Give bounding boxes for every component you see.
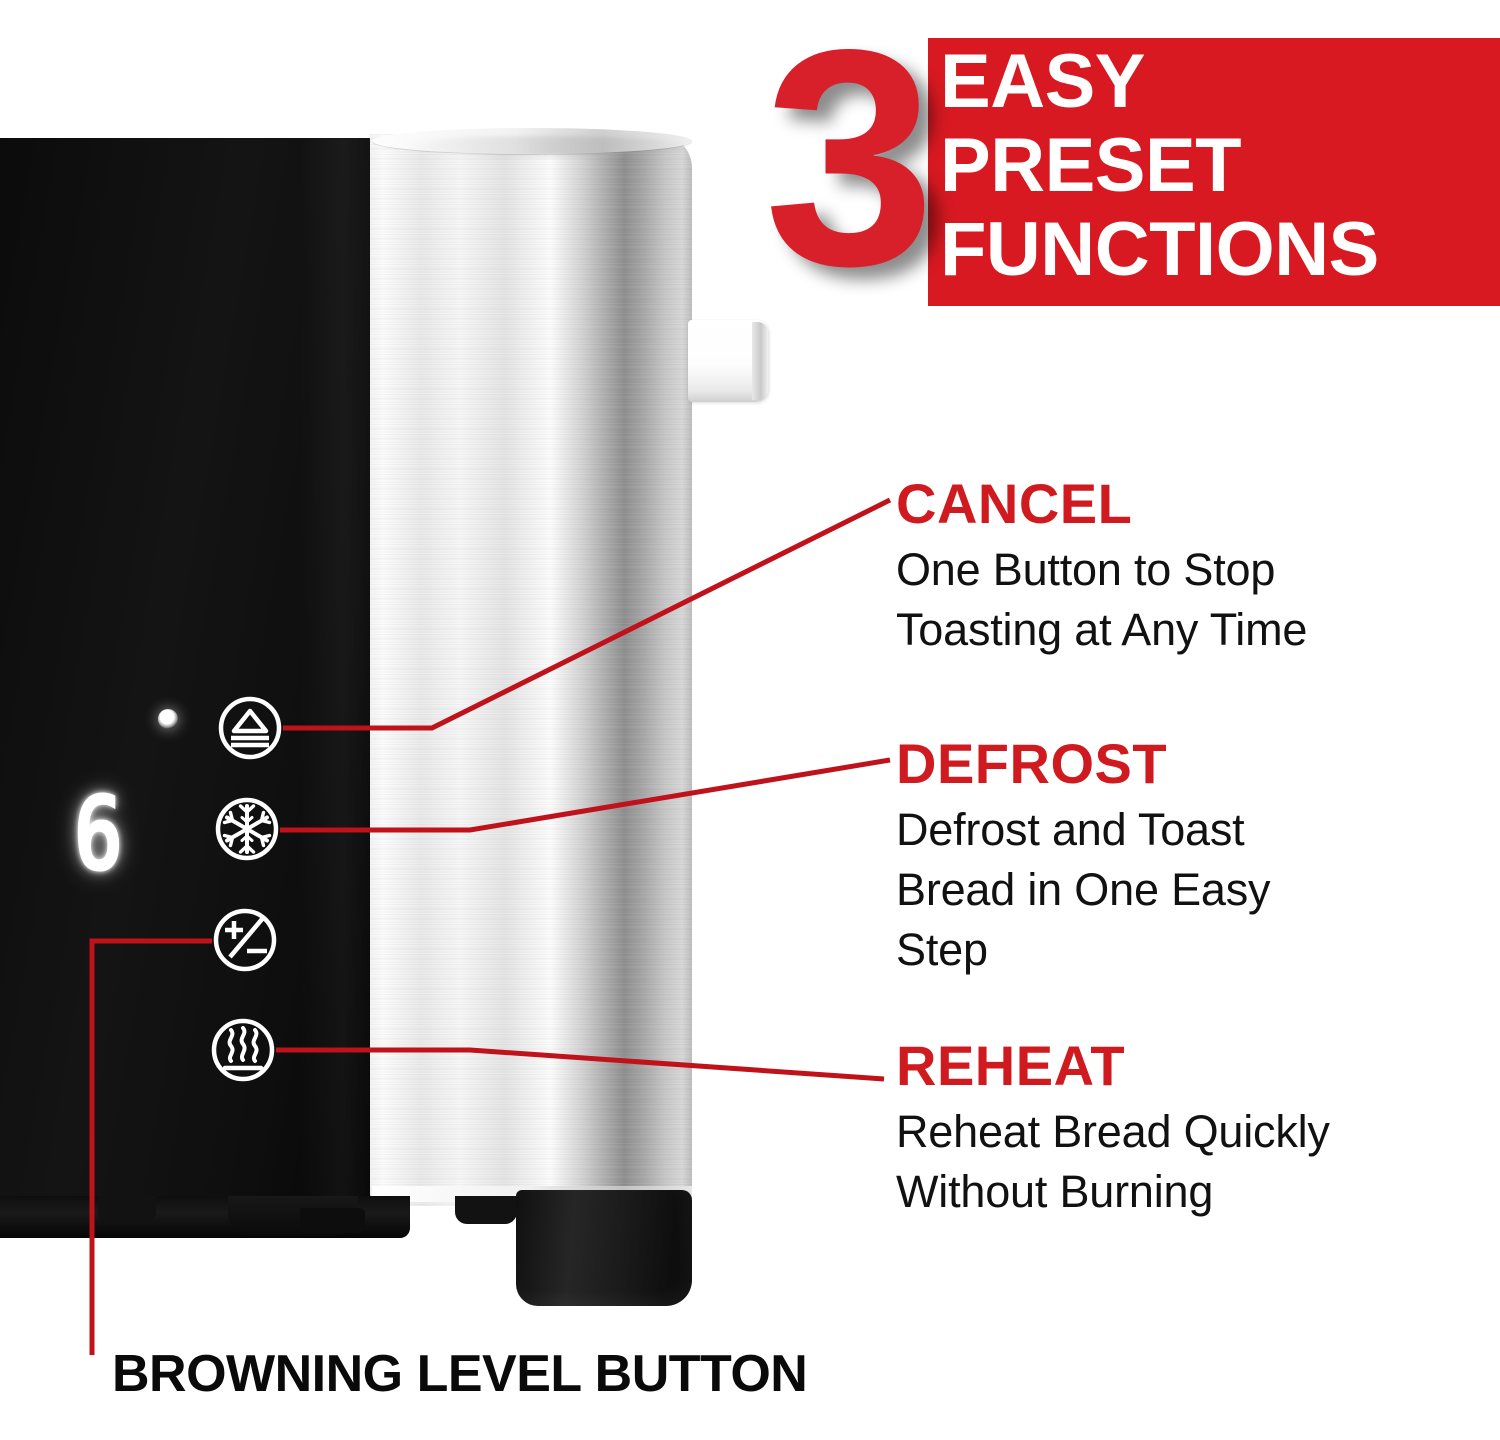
toaster-stainless-body (370, 134, 692, 1206)
reheat-waves-icon (209, 1016, 277, 1084)
browning-level-caption: BROWNING LEVEL BUTTON (112, 1344, 807, 1404)
infographic-canvas: 6 (0, 0, 1500, 1440)
callout-defrost-body-line-3: Step (896, 920, 1456, 980)
callout-reheat-body-line-1: Reheat Bread Quickly (896, 1102, 1456, 1162)
callout-reheat-body: Reheat Bread Quickly Without Burning (896, 1102, 1456, 1222)
browning-level-button[interactable] (211, 906, 279, 974)
callout-defrost: DEFROST Defrost and Toast Bread in One E… (896, 734, 1456, 980)
eject-icon (216, 694, 284, 762)
callout-cancel-body: One Button to Stop Toasting at Any Time (896, 540, 1456, 660)
header-line-2: PRESET (940, 124, 1500, 208)
callout-cancel: CANCEL One Button to Stop Toasting at An… (896, 474, 1456, 660)
reheat-button[interactable] (209, 1016, 277, 1084)
callout-reheat: REHEAT Reheat Bread Quickly Without Burn… (896, 1036, 1456, 1222)
callout-reheat-title: REHEAT (896, 1036, 1456, 1096)
toaster-crumb-tray-tab[interactable] (300, 1208, 365, 1233)
callout-defrost-title: DEFROST (896, 734, 1456, 794)
snowflake-icon (213, 795, 281, 863)
callout-defrost-body: Defrost and Toast Bread in One Easy Step (896, 800, 1456, 980)
toaster-product-photo: 6 (0, 0, 800, 1330)
callout-cancel-body-line-1: One Button to Stop (896, 540, 1456, 600)
toaster-foot-right (516, 1190, 692, 1306)
display-digit: 6 (65, 778, 131, 890)
brushed-texture-layer-2 (370, 134, 692, 1206)
header-line-1: EASY (940, 40, 1500, 124)
callout-cancel-body-line-2: Toasting at Any Time (896, 600, 1456, 660)
callout-cancel-title: CANCEL (896, 474, 1456, 534)
browning-level-display: 6 (58, 778, 138, 890)
callout-reheat-body-line-2: Without Burning (896, 1162, 1456, 1222)
cancel-button[interactable] (216, 694, 284, 762)
callout-defrost-body-line-1: Defrost and Toast (896, 800, 1456, 860)
plus-minus-icon (211, 906, 279, 974)
toaster-foot-left (98, 1196, 156, 1224)
toaster-foot-right-small (455, 1196, 517, 1224)
led-dot-icon (158, 709, 178, 729)
header-line-3: FUNCTIONS (940, 208, 1500, 292)
callout-defrost-body-line-2: Bread in One Easy (896, 860, 1456, 920)
control-panel-sheen (300, 138, 372, 1203)
header-number: 3 (764, 8, 929, 308)
header-title: EASY PRESET FUNCTIONS (940, 40, 1500, 292)
defrost-button[interactable] (213, 795, 281, 863)
carriage-lever-side[interactable] (752, 322, 768, 400)
toaster-top-rim-shadow (400, 136, 690, 156)
